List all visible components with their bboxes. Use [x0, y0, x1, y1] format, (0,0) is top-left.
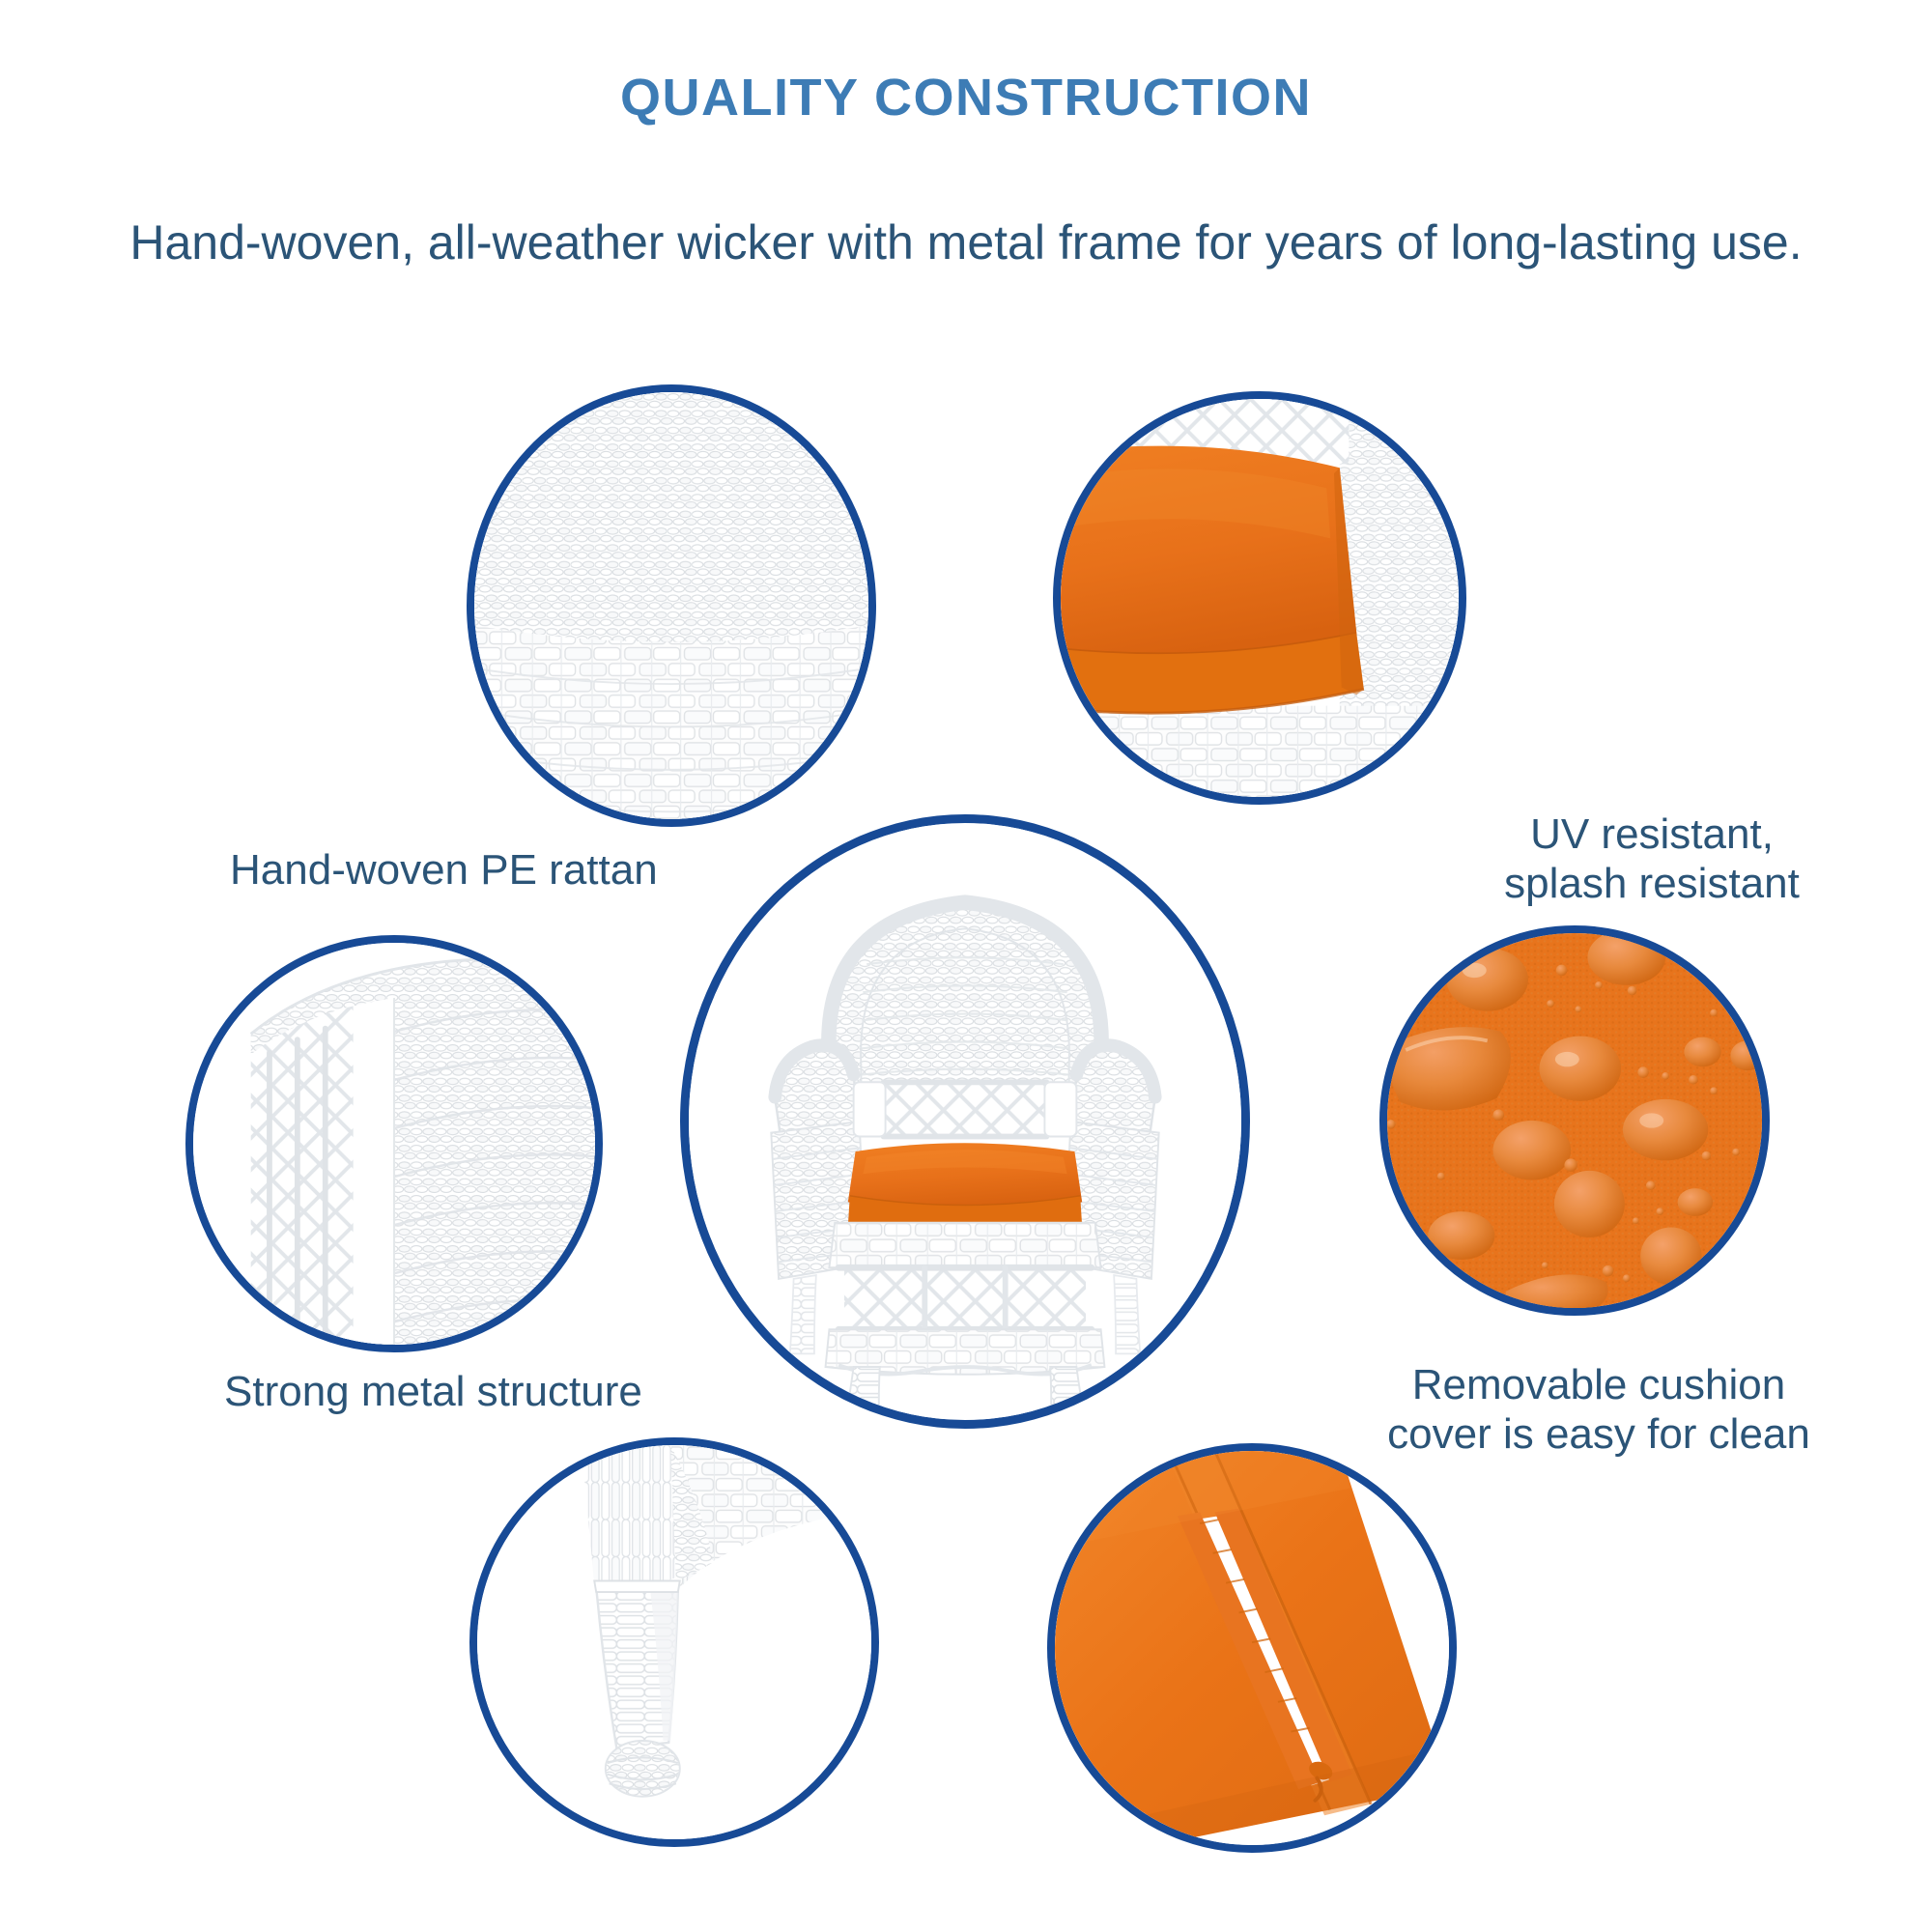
orange-cushion-on-white-wicker-seat-image [1061, 399, 1459, 797]
caption-removable-cushion-cover: Removable cushion cover is easy for clea… [1323, 1360, 1874, 1459]
page-subtitle: Hand-woven, all-weather wicker with meta… [0, 214, 1932, 270]
caption-hand-woven-pe-rattan: Hand-woven PE rattan [230, 845, 771, 895]
feature-circle-removable-cushion-cover [1379, 925, 1770, 1316]
white-wicker-weave-closeup-image [474, 392, 868, 819]
feature-circle-cushion-zipper-detail [1047, 1443, 1457, 1853]
feature-circle-full-chair [680, 814, 1250, 1429]
feature-circle-uv-splash-resistant [1053, 391, 1466, 805]
feature-circle-strong-metal-structure [185, 935, 603, 1352]
white-wicker-chair-arm-corner-image [193, 943, 595, 1345]
feature-circle-chair-leg-detail [469, 1437, 879, 1847]
feature-circle-hand-woven-pe-rattan [467, 384, 876, 827]
white-wicker-armchair-with-orange-cushion-image [689, 823, 1241, 1420]
water-droplets-on-orange-fabric-image [1387, 933, 1762, 1308]
caption-strong-metal-structure: Strong metal structure [224, 1367, 765, 1416]
white-wicker-chair-leg-image [477, 1445, 871, 1839]
page-title: QUALITY CONSTRUCTION [0, 68, 1932, 128]
orange-cushion-zipper-image [1055, 1451, 1449, 1845]
infographic-page: QUALITY CONSTRUCTION Hand-woven, all-wea… [0, 0, 1932, 1932]
caption-uv-splash-resistant: UV resistant, splash resistant [1410, 810, 1893, 908]
